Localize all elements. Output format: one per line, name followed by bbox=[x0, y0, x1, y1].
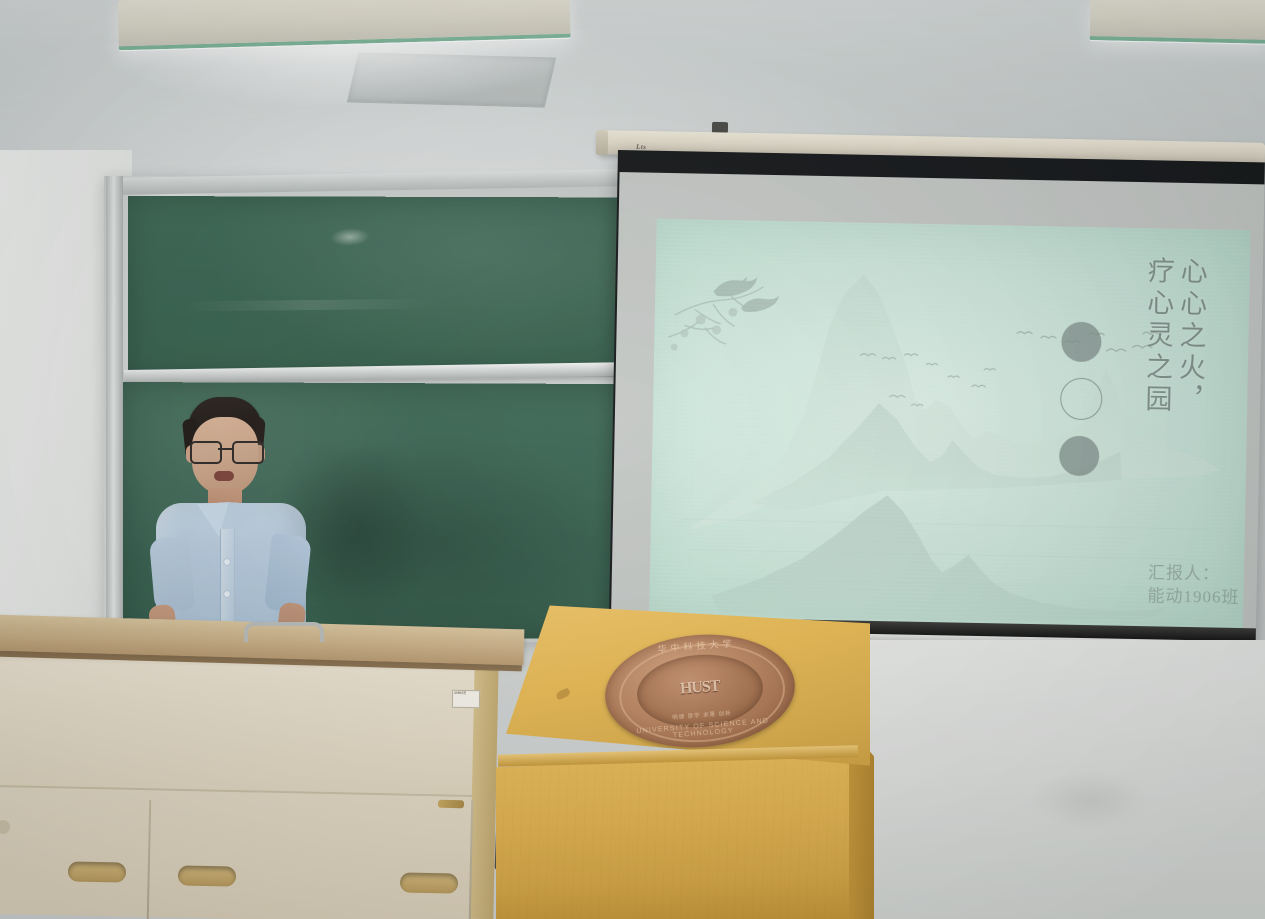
cabinet-upper-panel bbox=[0, 661, 475, 797]
glasses-lens-left bbox=[190, 441, 222, 464]
emblem-acronym: HUST bbox=[636, 674, 763, 702]
glasses-icon bbox=[190, 441, 262, 460]
cabinet-handle[interactable] bbox=[178, 865, 236, 886]
slide-byline: 汇报人： 能动1906班 bbox=[1147, 562, 1240, 610]
podium: 华中科技大学 HUST 明德 厚学 求是 创新 UNIVERSITY OF SC… bbox=[492, 602, 882, 919]
cabinet-handle[interactable] bbox=[400, 872, 458, 893]
podium-scratch bbox=[555, 687, 571, 700]
shirt-sleeve-left bbox=[149, 535, 195, 612]
cabinet-asset-label: 设备标签 bbox=[452, 690, 480, 709]
blackboard-panel-upper bbox=[128, 196, 628, 378]
chalk-mark bbox=[330, 227, 371, 247]
screen-housing-end-cap bbox=[596, 130, 608, 155]
presenter-mouth bbox=[214, 471, 234, 481]
slide-bullet-dots bbox=[1059, 322, 1104, 493]
glasses-lens-right bbox=[232, 441, 264, 464]
desk-drawer-handle[interactable] bbox=[244, 622, 324, 642]
shirt-button bbox=[224, 559, 230, 565]
cabinet-lock[interactable] bbox=[438, 800, 464, 809]
ceiling-light-right bbox=[1090, 0, 1265, 44]
university-emblem: 华中科技大学 HUST 明德 厚学 求是 创新 UNIVERSITY OF SC… bbox=[601, 628, 799, 755]
slide-title: 心心之火， 疗心灵之园 bbox=[1139, 256, 1208, 417]
classroom-photo: Lts bbox=[0, 0, 1265, 919]
projection-screen: 心心之火， 疗心灵之园 汇报人： 能动1906班 bbox=[609, 150, 1265, 652]
shirt-sleeve-right bbox=[264, 533, 312, 613]
podium-wood-grain bbox=[496, 762, 852, 919]
presenter bbox=[120, 395, 340, 645]
shirt-button bbox=[224, 591, 230, 597]
bullet-dot-filled bbox=[1061, 322, 1102, 363]
presenter-label: 汇报人： bbox=[1148, 562, 1240, 587]
bullet-dot-hollow bbox=[1060, 378, 1103, 421]
cabinet-handle[interactable] bbox=[68, 861, 126, 882]
wall-smudge bbox=[1030, 770, 1150, 830]
projected-slide: 心心之火， 疗心灵之园 汇报人： 能动1906班 bbox=[649, 219, 1251, 628]
presenter-class: 能动1906班 bbox=[1147, 585, 1239, 610]
bullet-dot-filled bbox=[1059, 436, 1100, 477]
glasses-bridge bbox=[218, 448, 232, 450]
